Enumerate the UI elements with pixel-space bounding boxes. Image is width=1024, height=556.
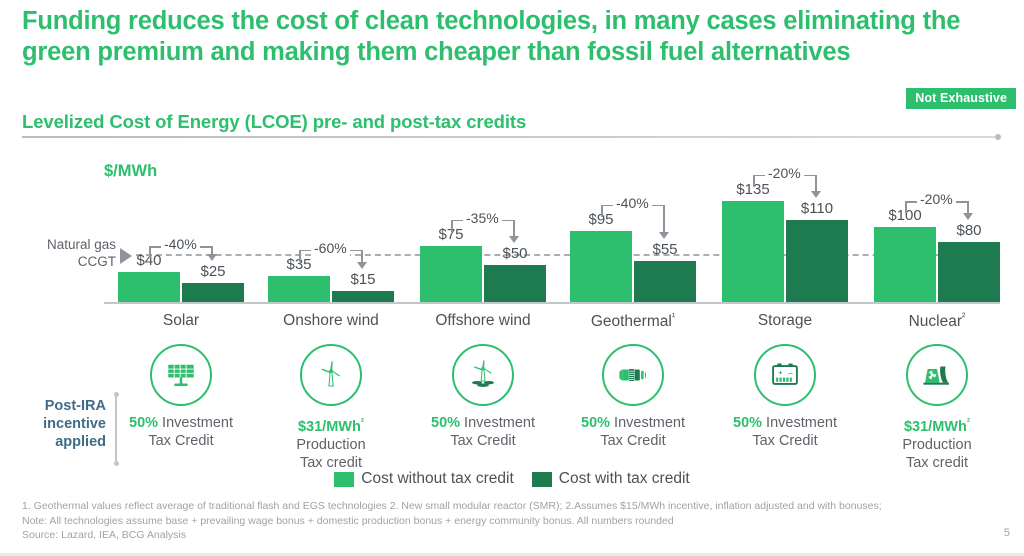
slide: Funding reduces the cost of clean techno…: [0, 0, 1024, 556]
footnotes: 1. Geothermal values reflect average of …: [22, 499, 962, 543]
incentive-cell: +–50% InvestmentTax Credit: [710, 340, 860, 450]
legend-item-without: Cost without tax credit: [334, 470, 513, 488]
wind-turbine-icon: [300, 344, 362, 406]
incentive-credit-text: $31/MWh²ProductionTax credit: [256, 414, 406, 472]
bar-with-credit: [332, 291, 394, 302]
incentive-credit-text: 50% InvestmentTax Credit: [106, 414, 256, 450]
post-ira-label: Post-IRA incentive applied: [14, 397, 106, 451]
section-divider: [22, 136, 1000, 138]
section-subtitle: Levelized Cost of Energy (LCOE) pre- and…: [22, 111, 526, 133]
offshore-wind-icon: [452, 344, 514, 406]
category-label: Offshore wind: [396, 312, 570, 330]
delta-annotation: -20%: [0, 201, 1024, 241]
geothermal-icon: [602, 344, 664, 406]
legend-item-with: Cost with tax credit: [532, 470, 690, 488]
footnote-line-1: 1. Geothermal values reflect average of …: [22, 499, 962, 514]
incentive-cell: $31/MWh²ProductionTax credit: [256, 340, 406, 472]
category-label: Solar: [94, 312, 268, 330]
legend-label-without: Cost without tax credit: [361, 470, 513, 488]
category-label: Nuclear²: [850, 312, 1024, 331]
nuclear-plant-icon: [906, 344, 968, 406]
svg-text:+: +: [778, 368, 783, 377]
legend-label-with: Cost with tax credit: [559, 470, 690, 488]
solar-panel-icon: [150, 344, 212, 406]
chart-legend: Cost without tax credit Cost with tax cr…: [0, 470, 1024, 488]
incentive-cell: $31/MWh²ProductionTax credit: [862, 340, 1012, 472]
incentive-cell: 50% InvestmentTax Credit: [408, 340, 558, 450]
incentive-credit-text: $31/MWh²ProductionTax credit: [862, 414, 1012, 472]
footnote-line-2: Note: All technologies assume base + pre…: [22, 514, 962, 529]
incentive-credit-text: 50% InvestmentTax Credit: [408, 414, 558, 450]
lcoe-bar-chart: $/MWh Natural gas CCGT $40$25$35$15$75$5…: [0, 140, 1024, 340]
svg-text:–: –: [788, 368, 793, 377]
incentive-row: Post-IRA incentive applied 50% Investmen…: [0, 340, 1024, 465]
legend-swatch-dark-icon: [532, 472, 552, 487]
category-label: Onshore wind: [244, 312, 418, 330]
not-exhaustive-badge: Not Exhaustive: [906, 88, 1016, 109]
page-title: Funding reduces the cost of clean techno…: [22, 6, 997, 68]
footnote-line-3: Source: Lazard, IEA, BCG Analysis: [22, 528, 962, 543]
legend-swatch-light-icon: [334, 472, 354, 487]
category-label: Geothermal¹: [546, 312, 720, 331]
category-label: Storage: [698, 312, 872, 330]
incentive-cell: 50% InvestmentTax Credit: [106, 340, 256, 450]
page-number: 5: [1004, 527, 1010, 539]
incentive-credit-text: 50% InvestmentTax Credit: [710, 414, 860, 450]
incentive-credit-text: 50% InvestmentTax Credit: [558, 414, 708, 450]
chart-baseline-axis: [104, 302, 1000, 304]
battery-storage-icon: +–: [754, 344, 816, 406]
incentive-cell: 50% InvestmentTax Credit: [558, 340, 708, 450]
